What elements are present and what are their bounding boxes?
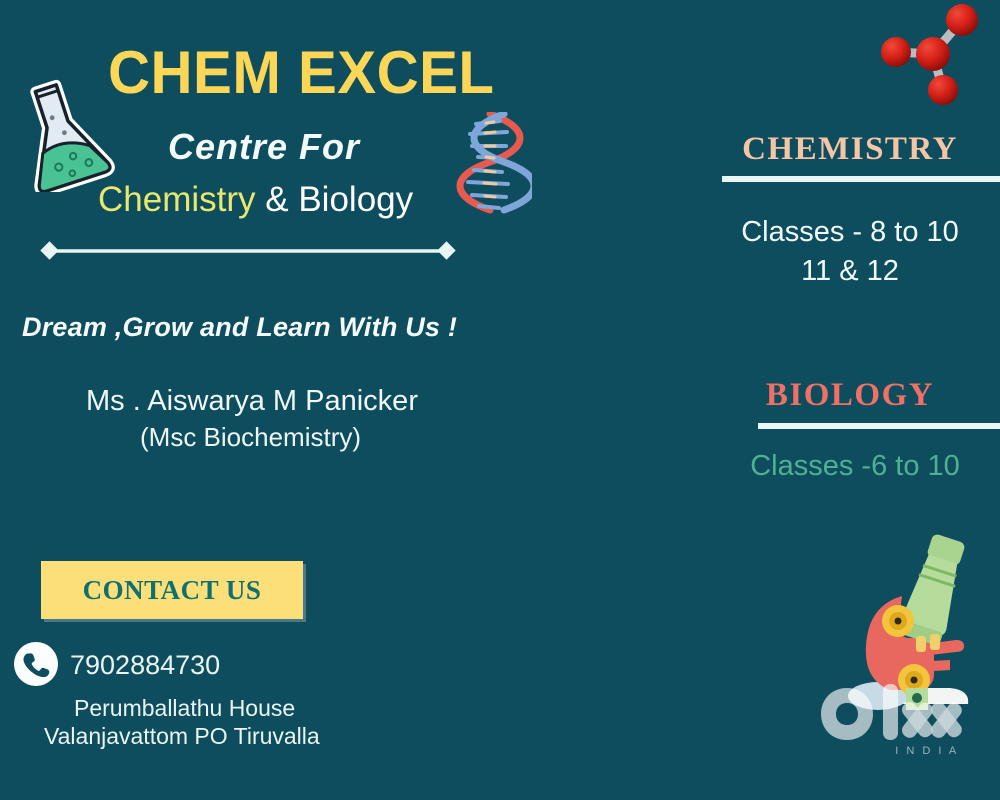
phone-number[interactable]: 7902884730: [70, 650, 220, 681]
address-line-1: Perumballathu House: [74, 695, 295, 722]
teacher-name: Ms . Aiswarya M Panicker: [86, 385, 418, 418]
subject-title-biology: BIOLOGY: [700, 377, 1000, 414]
olx-watermark-region: I N D I A: [895, 745, 958, 757]
biology-rule: [758, 423, 1000, 429]
biology-classes-line-1: Classes -6 to 10: [700, 450, 1000, 483]
chemistry-classes-line-1: Classes - 8 to 10: [700, 216, 1000, 249]
diamond-divider: [38, 240, 458, 262]
chemistry-classes-line-2: 11 & 12: [700, 255, 1000, 288]
brand-title: CHEM EXCEL: [108, 38, 494, 107]
teacher-qualification: (Msc Biochemistry): [140, 422, 361, 453]
tagline: Dream ,Grow and Learn With Us !: [22, 312, 457, 343]
address-line-2: Valanjavattom PO Tiruvalla: [44, 723, 320, 750]
chemistry-rule: [722, 176, 1000, 182]
conical-flask-icon: [4, 72, 116, 192]
subtitle-biology-word: Biology: [298, 180, 413, 219]
dna-helix-icon: [452, 112, 532, 217]
contact-us-button[interactable]: CONTACT US: [41, 561, 303, 619]
phone-icon: [13, 641, 59, 687]
subtitle-ampersand: &: [256, 180, 299, 219]
subtitle-chemistry-word: Chemistry: [98, 180, 256, 219]
contact-us-button-label: CONTACT US: [83, 575, 262, 606]
subject-title-chemistry: CHEMISTRY: [700, 131, 1000, 168]
olx-watermark: I N D I A: [815, 682, 987, 758]
brand-subtitle-line1: Centre For: [168, 126, 360, 168]
brand-subtitle-line2: Chemistry & Biology: [98, 180, 413, 220]
poster-canvas: CHEM EXCEL Centre For Chemistry & Biolog…: [0, 0, 1000, 800]
molecule-icon: [866, 2, 988, 112]
